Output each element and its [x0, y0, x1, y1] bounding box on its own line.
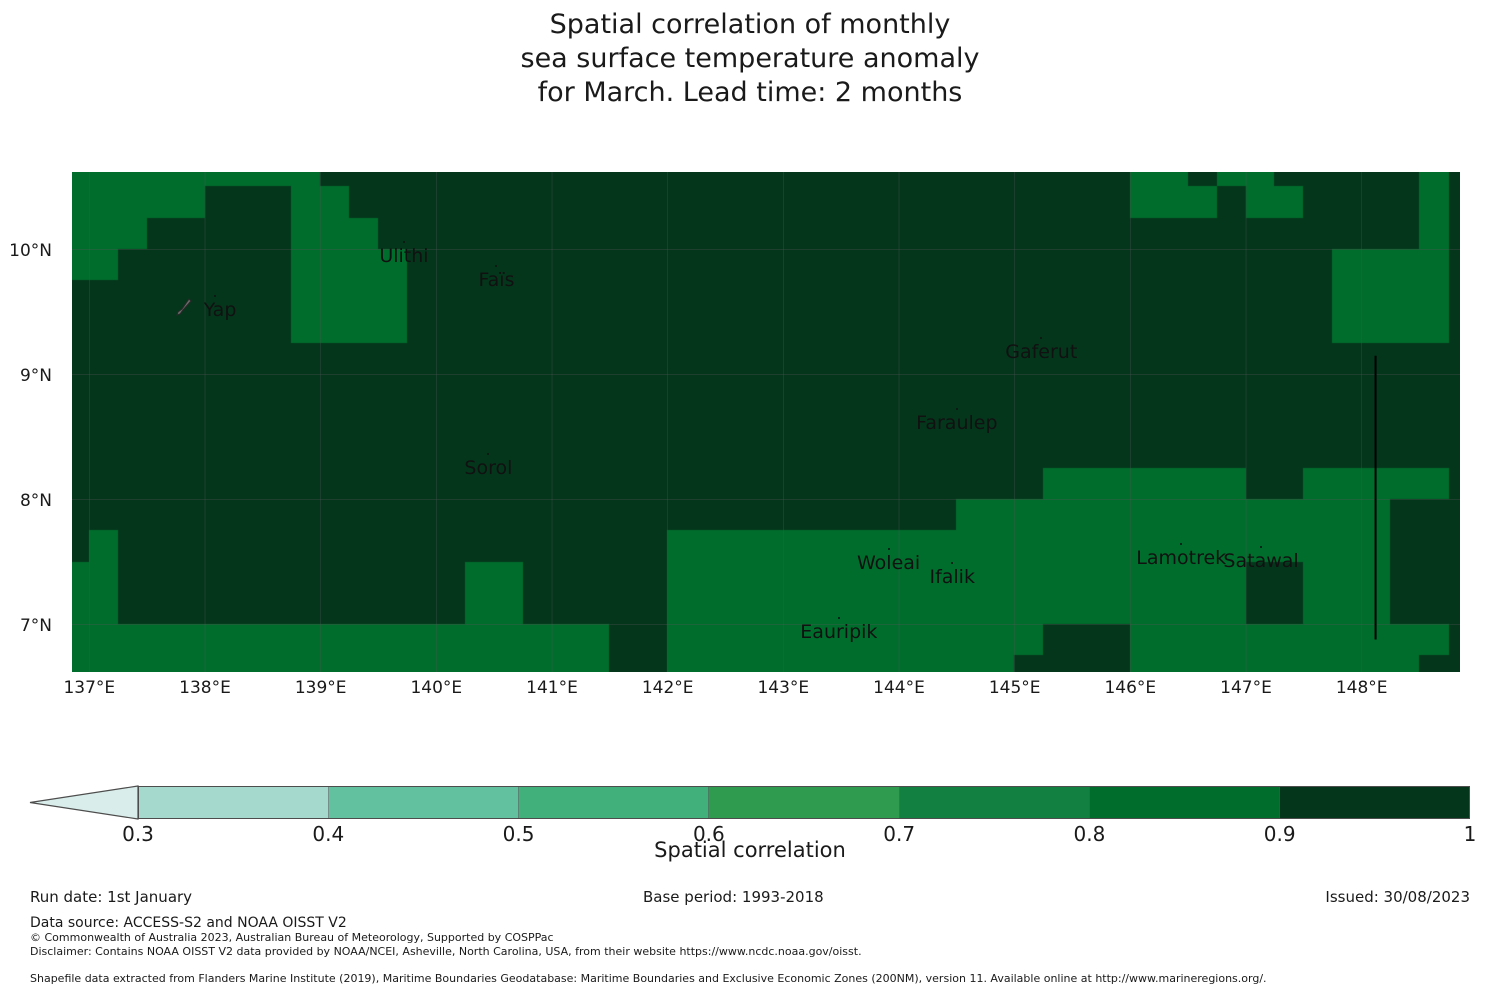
island-marker-dot [403, 241, 405, 243]
xtick-label: 140°E [391, 678, 481, 698]
island-marker-dot [487, 453, 489, 455]
xtick-label: 141°E [507, 678, 597, 698]
xtick-label: 144°E [854, 678, 944, 698]
colorbar-segment-3 [709, 787, 899, 818]
fineprint-block: Data source: ACCESS-S2 and NOAA OISST V2… [30, 915, 1490, 986]
disclaimer-text: Disclaimer: Contains NOAA OISST V2 data … [30, 945, 1490, 959]
colorbar-segment-6 [1280, 787, 1469, 818]
colorbar-gradient [138, 786, 1470, 819]
xtick-label: 139°E [276, 678, 366, 698]
xtick-label: 147°E [1201, 678, 1291, 698]
issued-date-text: Issued: 30/08/2023 [1325, 888, 1470, 906]
colorbar-axis-label: Spatial correlation [0, 838, 1500, 862]
island-marker-dot [838, 617, 840, 619]
colorbar-segment-5 [1090, 787, 1280, 818]
correlation-raster [72, 172, 1460, 672]
island-marker-dot [956, 408, 958, 410]
map-figure: 7°N8°N9°N10°N137°E138°E139°E140°E141°E14… [0, 0, 1500, 720]
map-plot-area[interactable] [72, 172, 1460, 672]
colorbar-segment-1 [329, 787, 519, 818]
yap-island-shape [173, 296, 195, 318]
island-marker-dot [1180, 543, 1182, 545]
island-marker-dot [1040, 337, 1042, 339]
ytick-label: 7°N [0, 616, 52, 636]
colorbar-segment-0 [139, 787, 329, 818]
xtick-label: 148°E [1317, 678, 1407, 698]
island-marker-dot [214, 295, 216, 297]
colorbar-segment-2 [519, 787, 709, 818]
footer-row: Run date: 1st January Base period: 1993-… [0, 888, 1500, 910]
copyright-text: © Commonwealth of Australia 2023, Austra… [30, 931, 1490, 945]
xtick-label: 137°E [44, 678, 134, 698]
colorbar: 0.30.40.50.60.70.80.91 [0, 782, 1500, 882]
xtick-label: 138°E [160, 678, 250, 698]
island-marker-dot [1260, 546, 1262, 548]
run-date-text: Run date: 1st January [30, 888, 192, 906]
island-marker-dot [951, 562, 953, 564]
xtick-label: 146°E [1085, 678, 1175, 698]
ytick-label: 8°N [0, 491, 52, 511]
xtick-label: 145°E [970, 678, 1060, 698]
island-marker-dot [495, 265, 497, 267]
ytick-label: 10°N [0, 241, 52, 261]
data-source-text: Data source: ACCESS-S2 and NOAA OISST V2 [30, 915, 1490, 931]
island-marker-dot [888, 548, 890, 550]
xtick-label: 142°E [623, 678, 713, 698]
ytick-label: 9°N [0, 366, 52, 386]
base-period-text: Base period: 1993-2018 [643, 888, 824, 906]
colorbar-segment-4 [900, 787, 1090, 818]
xtick-label: 143°E [738, 678, 828, 698]
shapefile-text: Shapefile data extracted from Flanders M… [30, 972, 1490, 986]
colorbar-extend-arrow [28, 785, 140, 820]
